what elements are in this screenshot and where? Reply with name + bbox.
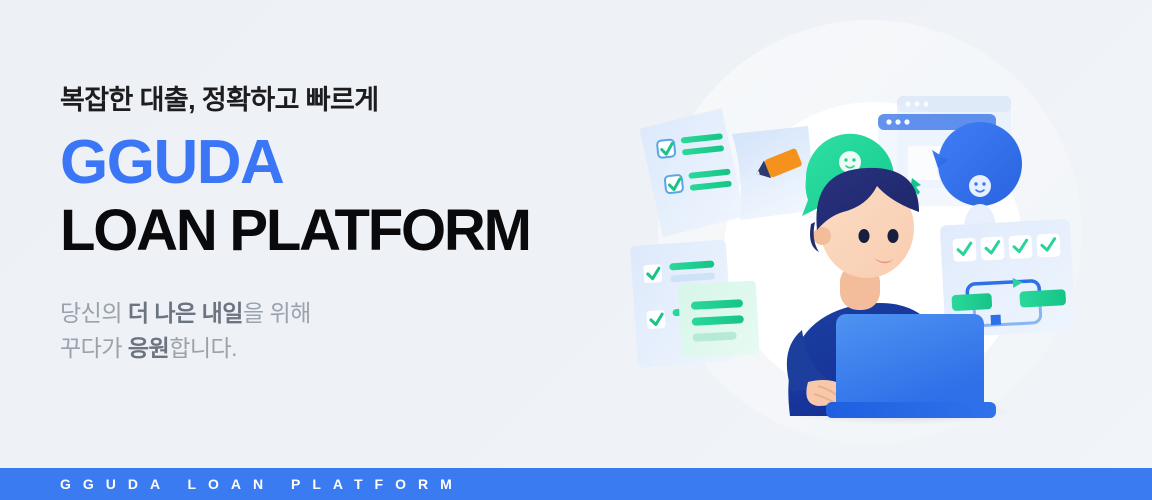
footer-strip-text: GGUDA LOAN PLATFORM (0, 476, 464, 492)
pencil-paper-card (732, 126, 816, 220)
tagline-2-prefix: 꾸다가 (60, 335, 128, 361)
tagline-line-1: 당신의 더 나은 내일을 위해 (60, 296, 660, 332)
hero-brand-name: GGUDA (60, 130, 660, 195)
tagline-1-suffix: 을 위해 (243, 300, 311, 326)
laptop (826, 314, 996, 418)
tagline-2-bold: 응원 (128, 335, 169, 361)
hero-product-name: LOAN PLATFORM (60, 201, 660, 262)
tagline-line-2: 꾸다가 응원합니다. (60, 331, 660, 367)
hero-tagline: 당신의 더 나은 내일을 위해 꾸다가 응원합니다. (60, 296, 660, 367)
hero-illustration (612, 14, 1112, 466)
hero-banner: 복잡한 대출, 정확하고 빠르게 GGUDA LOAN PLATFORM 당신의… (0, 0, 1152, 500)
footer-strip: GGUDA LOAN PLATFORM (0, 468, 1152, 500)
hero-copy-block: 복잡한 대출, 정확하고 빠르게 GGUDA LOAN PLATFORM 당신의… (60, 84, 660, 367)
tagline-1-prefix: 당신의 (60, 300, 128, 326)
tagline-2-suffix: 합니다. (169, 335, 237, 361)
tagline-1-bold: 더 나은 내일 (128, 300, 243, 326)
note-card-green (678, 280, 760, 358)
hero-eyebrow: 복잡한 대출, 정확하고 빠르게 (60, 84, 660, 118)
